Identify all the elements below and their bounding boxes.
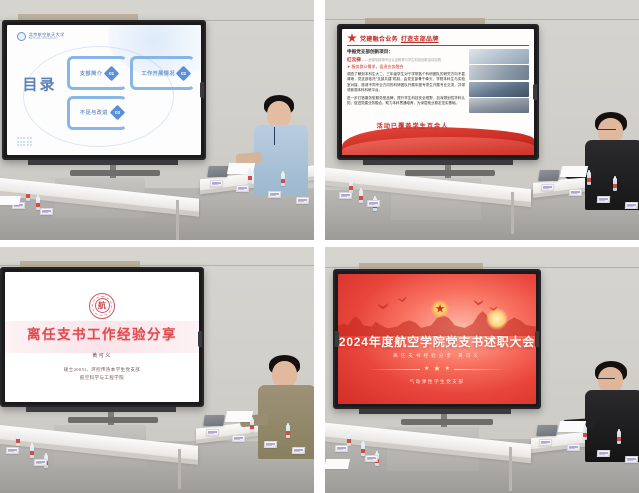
- laptop[interactable]: [207, 166, 229, 177]
- slide-header: 党建融合业务 打造支部品牌: [347, 33, 529, 46]
- dove-icon: [378, 303, 389, 310]
- water-bottle: [583, 427, 587, 440]
- slide-dot-decoration: [17, 137, 33, 146]
- paper-document: [0, 196, 21, 205]
- paper-document: [225, 411, 253, 422]
- sun-glow-decoration: [486, 308, 508, 330]
- laptop[interactable]: [538, 170, 560, 181]
- display-side-button[interactable]: [533, 84, 538, 100]
- name-plate: [597, 450, 610, 457]
- room-scene-4: 2024年度航空学院党支书述职大会 离任支书经验分享 黄可义 ★ ★ ★ 气动弹…: [325, 247, 639, 493]
- name-plate: [625, 456, 638, 463]
- slide-photo-4: [469, 98, 529, 113]
- room-scene-2: 党建融合业务 打造支部品牌 申报党支部创新项目： 红云梯 ——资源衔接带专业认证…: [325, 0, 639, 240]
- paper-document: [558, 421, 586, 432]
- slide-affiliation: 硕士2005I、环控传热本学生党支部 航空科学与工程学院: [64, 366, 140, 381]
- slide-photo-2: [469, 65, 529, 80]
- display-stand-base: [70, 170, 160, 176]
- slide-key-term-description: ——资源衔接带专业认证教育与学生科技创新活动实践: [362, 57, 441, 62]
- person-participant: [583, 361, 639, 465]
- university-logo-subtext: BEIHANG UNIVERSITY: [29, 37, 65, 40]
- person-presenter: [250, 95, 314, 205]
- name-plate: [541, 184, 554, 191]
- star-icon: ★: [433, 365, 440, 373]
- laptop[interactable]: [536, 425, 558, 436]
- photo-panel-top-right: 党建融合业务 打造支部品牌 申报党支部创新项目： 红云梯 ——资源衔接带专业认证…: [325, 0, 639, 240]
- room-scene-3: 航 离任支书工作经验分享 黄可义 硕士2005I、环控传热本学生党支部 航空科学…: [0, 247, 314, 493]
- slide-title: 目录: [23, 73, 57, 94]
- slide-photo-1: [469, 49, 529, 64]
- slide-key-term: 红云梯: [347, 57, 361, 63]
- party-emblem-icon: [347, 33, 357, 43]
- paper-document: [325, 459, 350, 469]
- presentation-display-3: 航 离任支书工作经验分享 黄可义 硕士2005I、环控传热本学生党支部 航空科学…: [0, 267, 204, 407]
- crest-ring: [92, 296, 112, 316]
- university-crest-icon: 航: [89, 293, 115, 319]
- slide-key-term-line: 红云梯 ——资源衔接带专业认证教育与学生科技创新活动实践: [347, 57, 465, 63]
- paper-document: [560, 166, 588, 177]
- name-plate: [34, 459, 47, 466]
- toc-item-1: 支部简介 01: [67, 56, 127, 90]
- water-bottle: [16, 433, 20, 446]
- name-plate: [365, 455, 378, 462]
- glasses: [597, 378, 615, 380]
- name-plate: [264, 441, 277, 448]
- slide-title-part1: 党建融合业务: [360, 34, 398, 43]
- name-plate: [625, 202, 638, 209]
- name-plate: [335, 445, 348, 452]
- water-bottle: [30, 445, 34, 458]
- table-leg: [178, 449, 181, 489]
- display-screen-2: 党建融合业务 打造支部品牌 申报党支部创新项目： 红云梯 ——资源衔接带专业认证…: [342, 29, 534, 155]
- slide-bullet-text: 服务群众需求，促进业务融合: [351, 64, 403, 69]
- slide-title: 2024年度航空学院党支书述职大会: [338, 333, 536, 350]
- display-side-button[interactable]: [198, 331, 203, 347]
- display-side-button[interactable]: [535, 331, 540, 347]
- display-screen-3: 航 离任支书工作经验分享 黄可义 硕士2005I、环控传热本学生党支部 航空科学…: [5, 272, 199, 402]
- slide-footer-slogan: 活动已覆盖学生百余人: [377, 121, 449, 130]
- slide-title: 离任支书工作经验分享: [27, 323, 177, 343]
- dove-icon: [473, 299, 484, 306]
- slide-bullet: ➤ 服务群众需求，促进业务融合: [347, 64, 465, 70]
- display-screen-4: 2024年度航空学院党支书述职大会 离任支书经验分享 黄可义 ★ ★ ★ 气动弹…: [338, 274, 536, 404]
- display-stand-base: [401, 419, 493, 425]
- slide-text-column: 申报党支部创新项目： 红云梯 ——资源衔接带专业认证教育与学生科技创新活动实践 …: [347, 49, 465, 114]
- water-bottle: [587, 172, 591, 185]
- table-leg: [509, 447, 512, 491]
- person-participant: [583, 112, 639, 212]
- table-leg: [176, 200, 179, 240]
- water-bottle: [250, 419, 254, 432]
- photo-panel-top-left: 北京航空航天大学 BEIHANG UNIVERSITY 目录 支部简介 01: [0, 0, 314, 240]
- table-leg: [511, 192, 514, 234]
- slide-paragraph-1: 调查了解到本科生大二、三年级学生对于学院各个科研团队的研究方向不甚清晰，党支部依…: [347, 72, 465, 94]
- name-plate: [40, 208, 53, 215]
- party-emblem-icon: [431, 300, 449, 318]
- name-plate: [339, 192, 352, 199]
- name-plate: [296, 197, 309, 204]
- university-crest-icon: [17, 32, 26, 41]
- head: [267, 101, 291, 128]
- laptop[interactable]: [203, 415, 225, 426]
- water-bottle: [248, 170, 252, 183]
- university-logo: 北京航空航天大学 BEIHANG UNIVERSITY: [17, 32, 65, 41]
- name-plate: [597, 196, 610, 203]
- name-plate: [292, 447, 305, 454]
- toc-number-text: 01: [109, 71, 114, 76]
- display-stand-base: [68, 417, 158, 423]
- water-bottle: [359, 190, 363, 203]
- name-plate: [6, 447, 19, 454]
- toc-item-3: 不足与改进 03: [67, 96, 127, 130]
- slide-organization: 气动弹性学生党支部: [338, 379, 536, 385]
- slide-affiliation-line-2: 航空科学与工程学院: [64, 374, 140, 382]
- slide-title-share: 航 离任支书工作经验分享 黄可义 硕士2005I、环控传热本学生党支部 航空科学…: [5, 272, 199, 402]
- name-plate: [236, 185, 249, 192]
- presentation-display-2: 党建融合业务 打造支部品牌 申报党支部创新项目： 红云梯 ——资源衔接带专业认证…: [337, 24, 539, 160]
- presentation-display-4: 2024年度航空学院党支书述职大会 离任支书经验分享 黄可义 ★ ★ ★ 气动弹…: [333, 269, 541, 409]
- display-mount-bracket: [359, 409, 511, 414]
- divider-rule-left: [368, 369, 420, 370]
- slide-affiliation-line-1: 硕士2005I、环控传热本学生党支部: [64, 366, 140, 374]
- name-plate: [268, 191, 281, 198]
- toc-item-1-label: 支部简介: [80, 70, 102, 77]
- display-side-button[interactable]: [200, 82, 205, 98]
- name-plate: [567, 444, 580, 451]
- star-icon: ★: [424, 366, 429, 372]
- water-bottle: [613, 178, 617, 191]
- toc-number-text: 02: [181, 71, 186, 76]
- star-icon: ★: [445, 366, 450, 372]
- toc-item-list: 支部简介 01 工作开展情况 02 不足与改进 03: [67, 51, 195, 137]
- name-plate: [367, 200, 380, 207]
- toc-number-text: 03: [115, 110, 120, 115]
- slide-party-building: 党建融合业务 打造支部品牌 申报党支部创新项目： 红云梯 ——资源衔接带专业认证…: [342, 29, 534, 155]
- water-bottle: [617, 431, 621, 444]
- display-side-button[interactable]: [334, 331, 339, 347]
- name-plate: [210, 180, 223, 187]
- name-plate: [232, 435, 245, 442]
- display-mount-bracket: [28, 160, 178, 165]
- slide-title-part2: 打造支部品牌: [401, 34, 439, 43]
- photo-panel-bottom-right: 2024年度航空学院党支书述职大会 离任支书经验分享 黄可义 ★ ★ ★ 气动弹…: [325, 247, 639, 493]
- display-mount-bracket: [363, 160, 513, 165]
- name-plate: [569, 189, 582, 196]
- name-plate: [539, 439, 552, 446]
- display-stand-base: [405, 170, 495, 176]
- toc-item-3-label: 不足与改进: [80, 109, 108, 116]
- name-plate: [206, 429, 219, 436]
- slide-presenter-name: 黄可义: [92, 352, 112, 359]
- slide-subtitle: 申报党支部创新项目：: [347, 49, 465, 55]
- lanyard: [274, 127, 275, 145]
- slide-table-of-contents: 北京航空航天大学 BEIHANG UNIVERSITY 目录 支部简介 01: [7, 25, 201, 155]
- photo-grid: 北京航空航天大学 BEIHANG UNIVERSITY 目录 支部简介 01: [0, 0, 639, 493]
- divider-rule-right: [454, 369, 506, 370]
- slide-photo-strip: [469, 49, 529, 114]
- slide-paragraph-2: 进一步打造服务型服务型品牌，提升学生科技安全视野，加深规划性学科认知，促进党建业…: [347, 96, 465, 107]
- water-bottle: [281, 173, 285, 186]
- slide-congress-title: 2024年度航空学院党支书述职大会 离任支书经验分享 黄可义 ★ ★ ★ 气动弹…: [338, 274, 536, 404]
- toc-item-2: 工作开展情况 02: [130, 56, 195, 90]
- toc-item-2-label: 工作开展情况: [141, 70, 175, 77]
- slide-body: 申报党支部创新项目： 红云梯 ——资源衔接带专业认证教育与学生科技创新活动实践 …: [347, 49, 529, 114]
- water-bottle: [286, 425, 290, 438]
- presentation-display-1: 北京航空航天大学 BEIHANG UNIVERSITY 目录 支部简介 01: [2, 20, 206, 160]
- photo-panel-bottom-left: 航 离任支书工作经验分享 黄可义 硕士2005I、环控传热本学生党支部 航空科学…: [0, 247, 314, 493]
- slide-photo-3: [469, 82, 529, 97]
- star-divider: ★ ★ ★: [338, 365, 536, 373]
- dove-icon: [398, 296, 407, 303]
- room-scene-1: 北京航空航天大学 BEIHANG UNIVERSITY 目录 支部简介 01: [0, 0, 314, 240]
- slide-subtitle: 离任支书经验分享 黄可义: [338, 353, 536, 359]
- display-screen-1: 北京航空航天大学 BEIHANG UNIVERSITY 目录 支部简介 01: [7, 25, 201, 155]
- head: [272, 361, 297, 388]
- water-bottle: [26, 188, 30, 201]
- display-mount-bracket: [26, 407, 176, 412]
- glasses: [598, 129, 616, 131]
